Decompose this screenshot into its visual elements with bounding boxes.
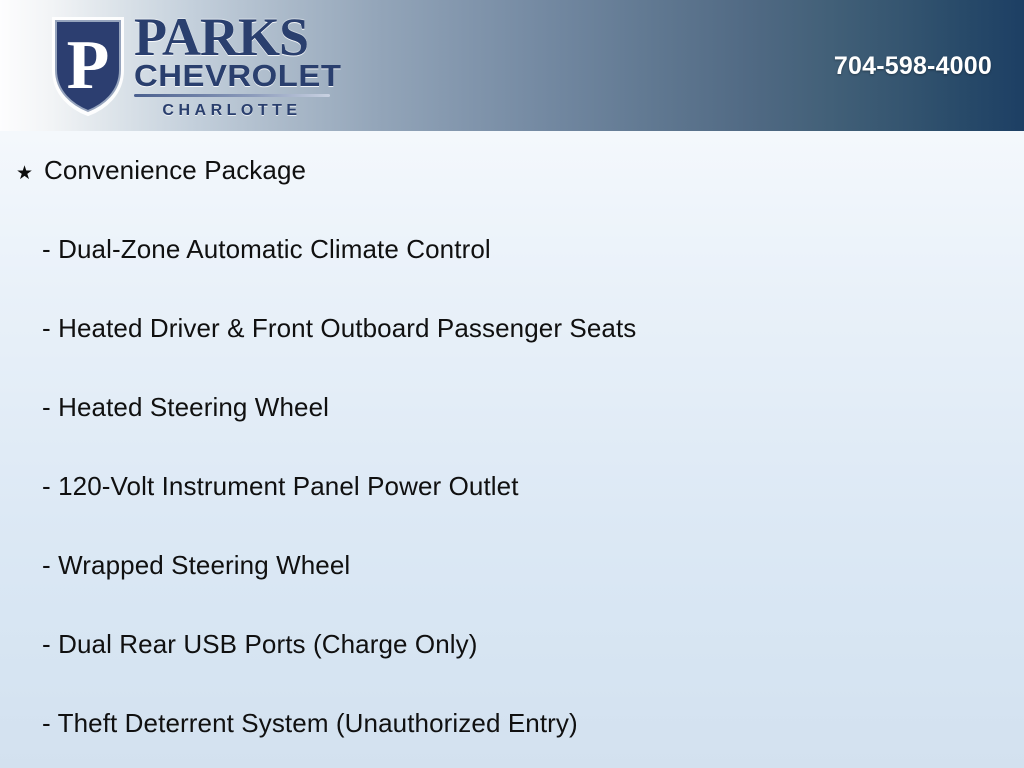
brand-city-charlotte: CHARLOTTE: [134, 101, 330, 121]
package-title: Convenience Package: [44, 155, 306, 185]
page-header: P PARKS CHEVROLET CHARLOTTE 704-598-4000: [0, 0, 1024, 131]
feature-label: - Dual-Zone Automatic Climate Control: [42, 234, 491, 264]
brand-name-parks: PARKS: [134, 10, 334, 64]
list-item: - Heated Steering Wheel: [0, 392, 1024, 471]
feature-label: - Theft Deterrent System (Unauthorized E…: [42, 708, 578, 738]
feature-label: - 120-Volt Instrument Panel Power Outlet: [42, 471, 519, 501]
feature-label: - Dual Rear USB Ports (Charge Only): [42, 629, 478, 659]
shield-icon: P: [50, 14, 126, 118]
brand-make-chevrolet: CHEVROLET: [134, 60, 346, 92]
star-icon: ★: [16, 164, 44, 183]
feature-list: ★ Convenience Package - Dual-Zone Automa…: [0, 155, 1024, 768]
dealer-phone-number[interactable]: 704-598-4000: [834, 52, 992, 81]
list-item: - Dual Rear USB Ports (Charge Only): [0, 629, 1024, 708]
list-item: - Dual-Zone Automatic Climate Control: [0, 234, 1024, 313]
feature-label: - Heated Driver & Front Outboard Passeng…: [42, 313, 636, 343]
slide: P PARKS CHEVROLET CHARLOTTE 704-598-4000…: [0, 0, 1024, 768]
list-item: - Wrapped Steering Wheel: [0, 550, 1024, 629]
list-item-heading: ★ Convenience Package: [0, 155, 1024, 234]
list-item: - Heated Driver & Front Outboard Passeng…: [0, 313, 1024, 392]
list-item: - Theft Deterrent System (Unauthorized E…: [0, 708, 1024, 768]
logo-divider-rule: [134, 94, 330, 97]
logo-wordmark: PARKS CHEVROLET CHARLOTTE: [134, 10, 334, 121]
feature-label: - Heated Steering Wheel: [42, 392, 329, 422]
feature-label: - Wrapped Steering Wheel: [42, 550, 350, 580]
dealer-logo[interactable]: P PARKS CHEVROLET CHARLOTTE: [42, 8, 342, 126]
feature-list-panel: ★ Convenience Package - Dual-Zone Automa…: [0, 131, 1024, 768]
list-item: - 120-Volt Instrument Panel Power Outlet: [0, 471, 1024, 550]
svg-text:P: P: [67, 27, 110, 104]
